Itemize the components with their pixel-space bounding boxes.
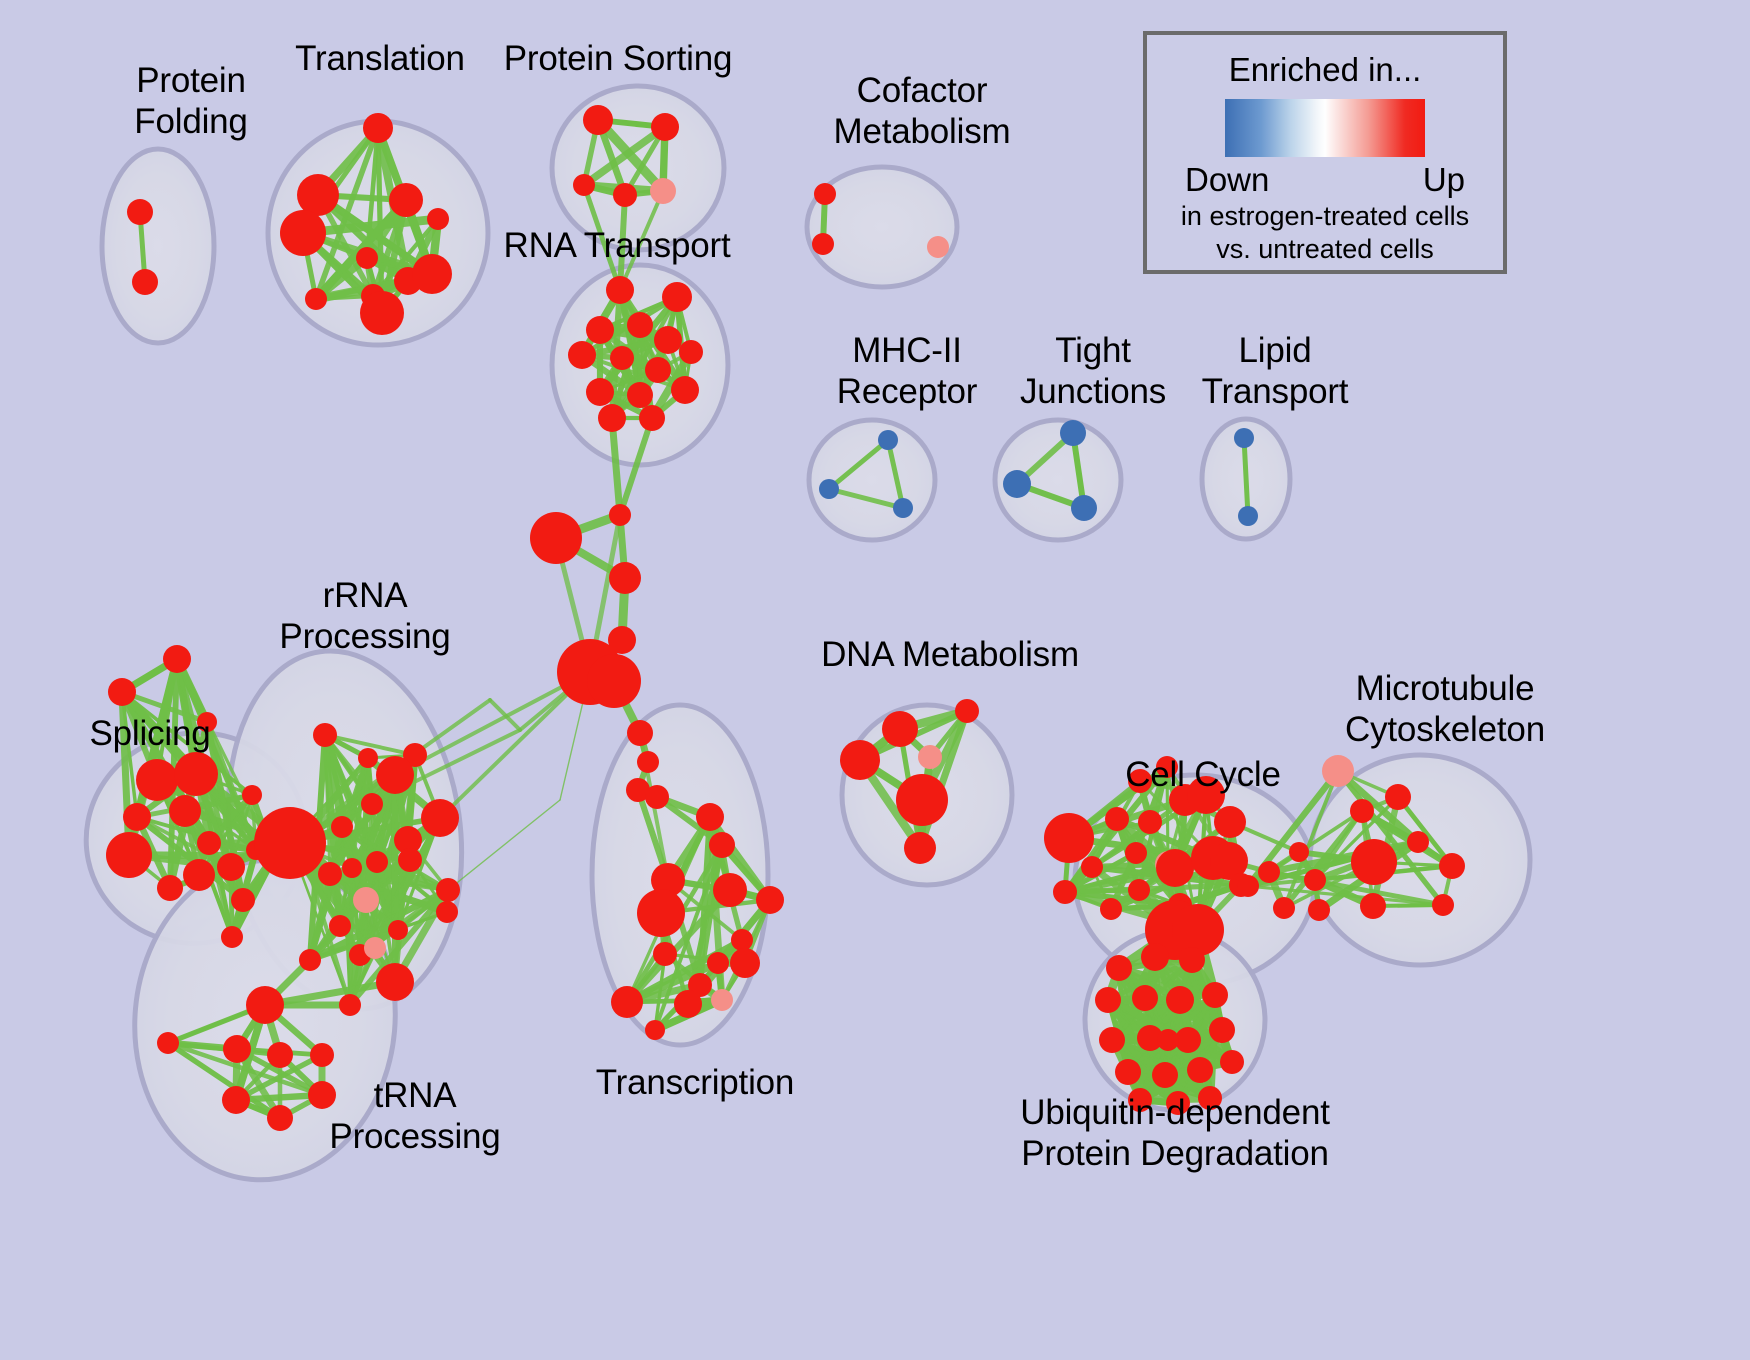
graph-node (840, 740, 880, 780)
graph-node (674, 990, 702, 1018)
graph-node (356, 247, 378, 269)
graph-node (639, 405, 665, 431)
graph-node (169, 795, 201, 827)
graph-node (1100, 898, 1122, 920)
graph-node (1258, 861, 1280, 883)
graph-node (711, 989, 733, 1011)
graph-node (197, 712, 217, 732)
graph-node (645, 785, 669, 809)
graph-node (231, 888, 255, 912)
graph-node (339, 994, 361, 1016)
graph-node (297, 174, 339, 216)
graph-node (1439, 853, 1465, 879)
graph-node (331, 816, 353, 838)
graph-node (814, 183, 836, 205)
graph-node (955, 699, 979, 723)
graph-node (613, 183, 637, 207)
graph-node (1172, 904, 1224, 956)
graph-node (645, 357, 671, 383)
graph-node (586, 316, 614, 344)
graph-node (653, 942, 677, 966)
graph-node (627, 382, 653, 408)
graph-node (308, 1081, 336, 1109)
legend-title: Enriched in... (1229, 51, 1422, 89)
graph-node (364, 937, 386, 959)
graph-node (1214, 806, 1246, 838)
graph-node (412, 254, 452, 294)
graph-node (1187, 1057, 1213, 1083)
legend-box: Enriched in... Down Up in estrogen-treat… (1143, 31, 1507, 274)
graph-node (709, 832, 735, 858)
graph-node (650, 178, 676, 204)
graph-node (108, 678, 136, 706)
graph-node (904, 832, 936, 864)
graph-node (1128, 1088, 1152, 1112)
graph-edge (490, 700, 520, 730)
graph-node (436, 901, 458, 923)
graph-node (896, 774, 948, 826)
graph-node (280, 210, 326, 256)
graph-node (627, 720, 653, 746)
graph-node (1141, 943, 1169, 971)
graph-node (360, 291, 404, 335)
graph-node (573, 174, 595, 196)
graph-node (427, 208, 449, 230)
graph-node (730, 948, 760, 978)
graph-node (1308, 899, 1330, 921)
graph-node (627, 312, 653, 338)
graph-node (1044, 813, 1094, 863)
graph-node (1351, 839, 1397, 885)
graph-node (305, 288, 327, 310)
legend-color-bar (1225, 99, 1425, 157)
graph-node (157, 1032, 179, 1054)
graph-node (1095, 987, 1121, 1013)
graph-node (221, 926, 243, 948)
graph-node (1138, 810, 1162, 834)
legend-up-label: Up (1423, 161, 1465, 199)
graph-node (918, 745, 942, 769)
graph-node (163, 645, 191, 673)
graph-node (707, 952, 729, 974)
graph-node (893, 498, 913, 518)
graph-node (366, 851, 388, 873)
graph-node (358, 748, 378, 768)
graph-node (671, 376, 699, 404)
graph-node (361, 793, 383, 815)
graph-node (586, 378, 614, 406)
graph-node (1432, 894, 1454, 916)
graph-node (1071, 495, 1097, 521)
graph-node (132, 269, 158, 295)
graph-node (1106, 955, 1132, 981)
cluster-ellipse-protein-folding (102, 149, 214, 343)
graph-node (127, 199, 153, 225)
graph-node (651, 113, 679, 141)
graph-node (696, 803, 724, 831)
graph-node (610, 346, 634, 370)
graph-node (106, 832, 152, 878)
network-figure: Protein FoldingTranslationProtein Sortin… (0, 0, 1750, 1360)
graph-node (398, 848, 422, 872)
graph-node (436, 878, 460, 902)
graph-node (1125, 842, 1147, 864)
graph-node (1273, 897, 1295, 919)
graph-node (421, 799, 459, 837)
graph-node (1105, 807, 1129, 831)
graph-edge (448, 800, 560, 890)
graph-node (609, 562, 641, 594)
graph-node (927, 236, 949, 258)
legend-down-label: Down (1185, 161, 1269, 199)
graph-node (363, 113, 393, 143)
graph-node (313, 723, 337, 747)
graph-node (217, 853, 245, 881)
graph-node (157, 875, 183, 901)
graph-node (318, 862, 342, 886)
graph-node (1179, 947, 1205, 973)
graph-node (1187, 776, 1225, 814)
graph-node (654, 326, 682, 354)
graph-node (882, 711, 918, 747)
graph-node (1132, 985, 1158, 1011)
graph-node (713, 873, 747, 907)
graph-node (310, 1043, 334, 1067)
graph-node (662, 282, 692, 312)
graph-node (1385, 784, 1411, 810)
graph-node (136, 759, 178, 801)
graph-node (222, 1086, 250, 1114)
graph-node (1304, 869, 1326, 891)
graph-node (637, 751, 659, 773)
graph-node (1053, 880, 1077, 904)
graph-node (609, 504, 631, 526)
graph-node (174, 752, 218, 796)
graph-node (223, 1035, 251, 1063)
graph-node (1157, 1029, 1179, 1051)
graph-node (598, 404, 626, 432)
graph-node (246, 986, 284, 1024)
graph-node (376, 963, 414, 1001)
graph-node (1202, 982, 1228, 1008)
graph-node (587, 654, 641, 708)
graph-node (1166, 1091, 1190, 1115)
graph-node (299, 949, 321, 971)
graph-node (388, 920, 408, 940)
graph-node (1237, 875, 1259, 897)
graph-node (1166, 986, 1194, 1014)
graph-node (389, 183, 423, 217)
graph-node (1350, 799, 1374, 823)
graph-node (376, 756, 414, 794)
graph-node (123, 803, 151, 831)
graph-node (568, 341, 596, 369)
legend-caption-line1: in estrogen-treated cells (1181, 201, 1469, 232)
graph-node (583, 105, 613, 135)
graph-node (530, 512, 582, 564)
graph-node (1003, 470, 1031, 498)
graph-node (1360, 893, 1386, 919)
graph-node (1128, 769, 1152, 793)
graph-node (197, 831, 221, 855)
graph-node (731, 929, 753, 951)
graph-node (1081, 856, 1103, 878)
graph-node (254, 807, 326, 879)
graph-node (1156, 849, 1194, 887)
graph-node (819, 479, 839, 499)
graph-node (1198, 1086, 1222, 1110)
graph-node (1238, 506, 1258, 526)
graph-node (183, 859, 215, 891)
graph-node (606, 276, 634, 304)
graph-node (1156, 756, 1178, 778)
graph-node (1209, 1017, 1235, 1043)
graph-node (1115, 1059, 1141, 1085)
graph-node (1220, 1050, 1244, 1074)
graph-node (611, 986, 643, 1018)
graph-node (342, 858, 362, 878)
graph-node (812, 233, 834, 255)
graph-node (645, 1020, 665, 1040)
graph-node (756, 886, 784, 914)
legend-caption-line2: vs. untreated cells (1216, 234, 1434, 265)
graph-node (1060, 420, 1086, 446)
graph-node (1128, 879, 1150, 901)
graph-node (329, 915, 351, 937)
graph-node (1289, 842, 1309, 862)
graph-node (353, 887, 379, 913)
graph-node (1322, 755, 1354, 787)
graph-node (679, 340, 703, 364)
graph-node (1407, 831, 1429, 853)
graph-node (1152, 1062, 1178, 1088)
legend-endpoints: Down Up (1185, 161, 1465, 199)
graph-node (1234, 428, 1254, 448)
graph-node (242, 785, 262, 805)
graph-node (267, 1105, 293, 1131)
graph-node (878, 430, 898, 450)
graph-node (1099, 1027, 1125, 1053)
graph-node (267, 1042, 293, 1068)
graph-node (637, 889, 685, 937)
